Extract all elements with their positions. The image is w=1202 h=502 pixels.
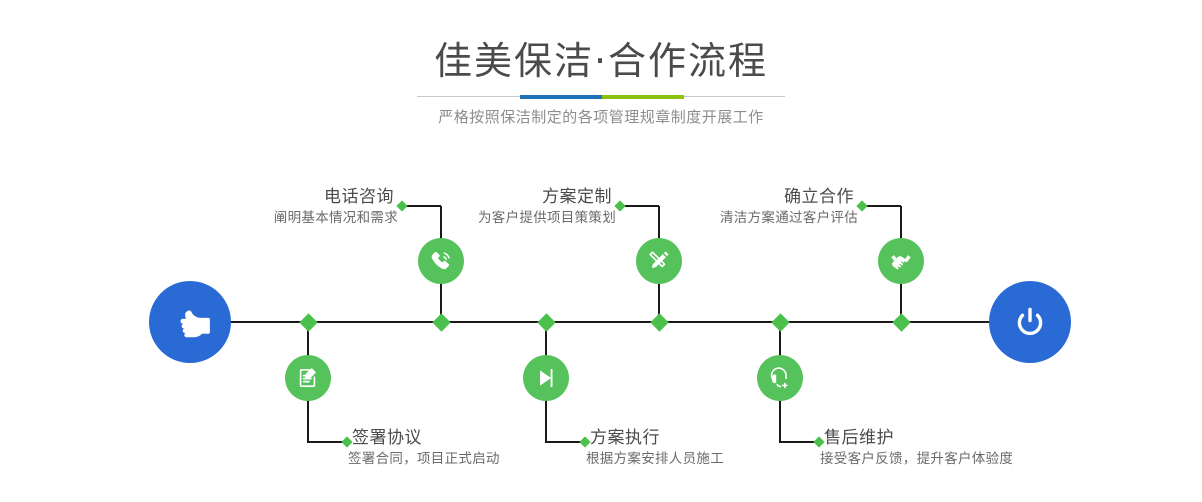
handshake-icon	[888, 248, 914, 274]
step-label-6: 确立合作 清洁方案通过客户评估	[576, 186, 858, 228]
headset-support-icon	[767, 365, 793, 391]
timeline-start-node[interactable]	[149, 281, 231, 363]
power-button-icon	[1007, 299, 1053, 345]
step-label-5: 售后维护 接受客户反馈，提升客户体验度	[820, 427, 1110, 469]
play-execute-icon	[533, 365, 559, 391]
axis-marker-step-5	[771, 313, 789, 331]
page-subtitle: 严格按照保洁制定的各项管理规章制度开展工作	[0, 106, 1202, 127]
page-title: 佳美保洁·合作流程	[0, 38, 1202, 84]
step-label-3: 方案定制 为客户提供项目策策划	[330, 186, 616, 228]
step-desc-3: 为客户提供项目策策划	[330, 208, 616, 228]
step-icon-circle-5[interactable]	[757, 355, 803, 401]
step-icon-circle-2[interactable]	[285, 355, 331, 401]
step-title-2: 签署协议	[348, 427, 598, 449]
axis-marker-step-3	[650, 313, 668, 331]
label-marker-step-6	[856, 200, 867, 211]
divider-blue-segment	[520, 95, 602, 99]
axis-marker-step-6	[892, 313, 910, 331]
step-desc-4: 根据方案安排人员施工	[586, 449, 836, 469]
header: 佳美保洁·合作流程 严格按照保洁制定的各项管理规章制度开展工作	[0, 0, 1202, 150]
step-title-6: 确立合作	[576, 186, 858, 208]
thumbs-up-hand-icon	[167, 299, 213, 345]
step-icon-circle-3[interactable]	[636, 238, 682, 284]
document-sign-icon	[295, 365, 321, 391]
step-title-5: 售后维护	[820, 427, 1110, 449]
step-desc-2: 签署合同，项目正式启动	[348, 449, 598, 469]
step-title-3: 方案定制	[330, 186, 616, 208]
process-flow-infographic: 佳美保洁·合作流程 严格按照保洁制定的各项管理规章制度开展工作	[0, 0, 1202, 502]
step-desc-5: 接受客户反馈，提升客户体验度	[820, 449, 1110, 469]
step-desc-6: 清洁方案通过客户评估	[576, 208, 858, 228]
step-icon-circle-1[interactable]	[418, 238, 464, 284]
step-label-4: 方案执行 根据方案安排人员施工	[586, 427, 836, 469]
phone-call-icon	[428, 248, 454, 274]
step-title-4: 方案执行	[586, 427, 836, 449]
timeline-end-node[interactable]	[989, 281, 1071, 363]
step-icon-circle-6[interactable]	[878, 238, 924, 284]
step-icon-circle-4[interactable]	[523, 355, 569, 401]
step-label-2: 签署协议 签署合同，项目正式启动	[348, 427, 598, 469]
title-divider	[417, 95, 785, 99]
divider-green-segment	[602, 95, 684, 99]
axis-marker-step-4	[537, 313, 555, 331]
axis-marker-step-2	[299, 313, 317, 331]
pencil-ruler-icon	[646, 248, 672, 274]
axis-marker-step-1	[432, 313, 450, 331]
